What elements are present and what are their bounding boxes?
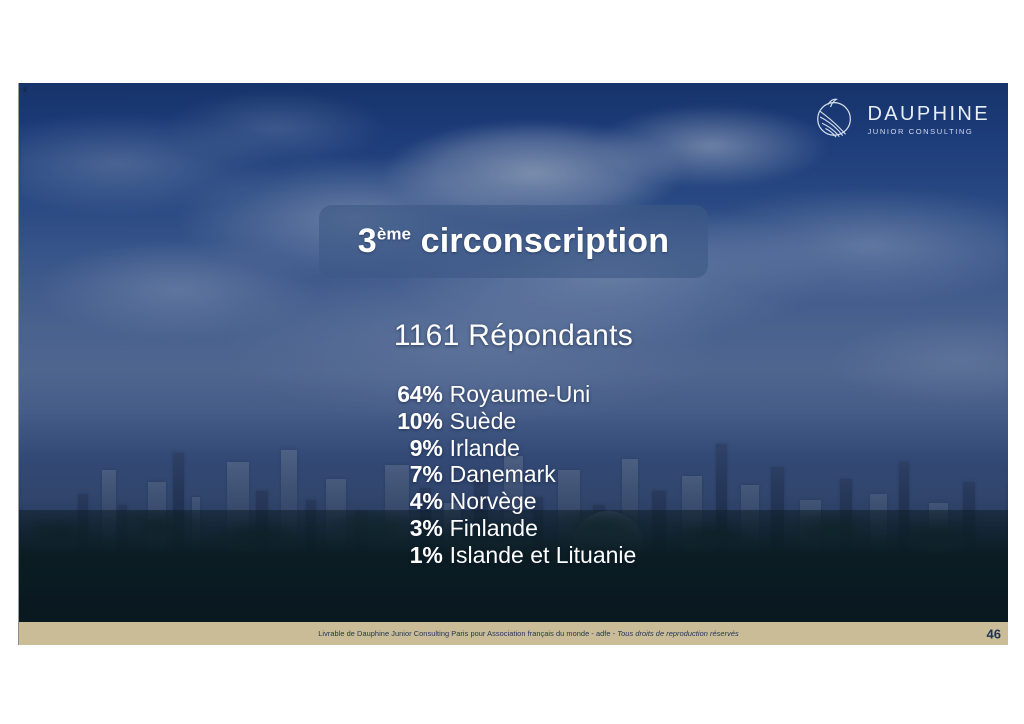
stat-country: Finlande — [450, 515, 538, 542]
title-banner: 3ème circonscription — [319, 205, 708, 278]
footer-text-plain: Livrable de Dauphine Junior Consulting P… — [318, 629, 617, 638]
slide-content: 1161 Répondants 64%Royaume-Uni10%Suède9%… — [19, 319, 1008, 569]
stat-percent: 1% — [391, 542, 443, 569]
footer-copyright-text: Livrable de Dauphine Junior Consulting P… — [19, 629, 1008, 638]
stat-country: Irlande — [450, 435, 520, 462]
list-item: 7%Danemark — [391, 461, 637, 488]
page-number: 46 — [987, 626, 1001, 641]
logo-wordmark: DAUPHINE JUNIOR CONSULTING — [867, 101, 990, 136]
stat-country: Islande et Lituanie — [450, 542, 637, 569]
stat-percent: 9% — [391, 435, 443, 462]
stat-percent: 7% — [391, 461, 443, 488]
list-item: 9%Irlande — [391, 435, 637, 462]
footer-text-italic: Tous droits de reproduction réservés — [617, 629, 738, 638]
page-title: 3ème circonscription — [358, 222, 669, 261]
country-stat-list: 64%Royaume-Uni10%Suède9%Irlande7%Danemar… — [391, 381, 637, 569]
dauphine-logo: DAUPHINE JUNIOR CONSULTING — [812, 95, 990, 141]
title-ordinal-suffix: ème — [377, 225, 411, 244]
stat-percent: 64% — [391, 381, 443, 408]
stat-country: Royaume-Uni — [450, 381, 591, 408]
stat-country: Danemark — [450, 461, 556, 488]
slide-page: z DAUPHINE JUNIOR CONSULTING 3 — [0, 0, 1024, 724]
list-item: 4%Norvège — [391, 488, 637, 515]
logo-tagline: JUNIOR CONSULTING — [867, 128, 990, 136]
list-item: 3%Finlande — [391, 515, 637, 542]
stat-percent: 4% — [391, 488, 443, 515]
stat-percent: 10% — [391, 408, 443, 435]
list-item: 10%Suède — [391, 408, 637, 435]
stat-percent: 3% — [391, 515, 443, 542]
stat-country: Norvège — [450, 488, 537, 515]
stat-country: Suède — [450, 408, 517, 435]
logo-name: DAUPHINE — [867, 104, 990, 124]
globe-sphere-icon — [812, 95, 858, 141]
title-number: 3 — [358, 222, 377, 260]
slide-canvas: z DAUPHINE JUNIOR CONSULTING 3 — [18, 83, 1008, 645]
list-item: 1%Islande et Lituanie — [391, 542, 637, 569]
list-item: 64%Royaume-Uni — [391, 381, 637, 408]
respondents-count: 1161 Répondants — [19, 319, 1008, 353]
title-rest: circonscription — [411, 222, 669, 260]
corner-artifact-glyph: z — [23, 85, 27, 94]
slide-footer: Livrable de Dauphine Junior Consulting P… — [18, 622, 1008, 645]
